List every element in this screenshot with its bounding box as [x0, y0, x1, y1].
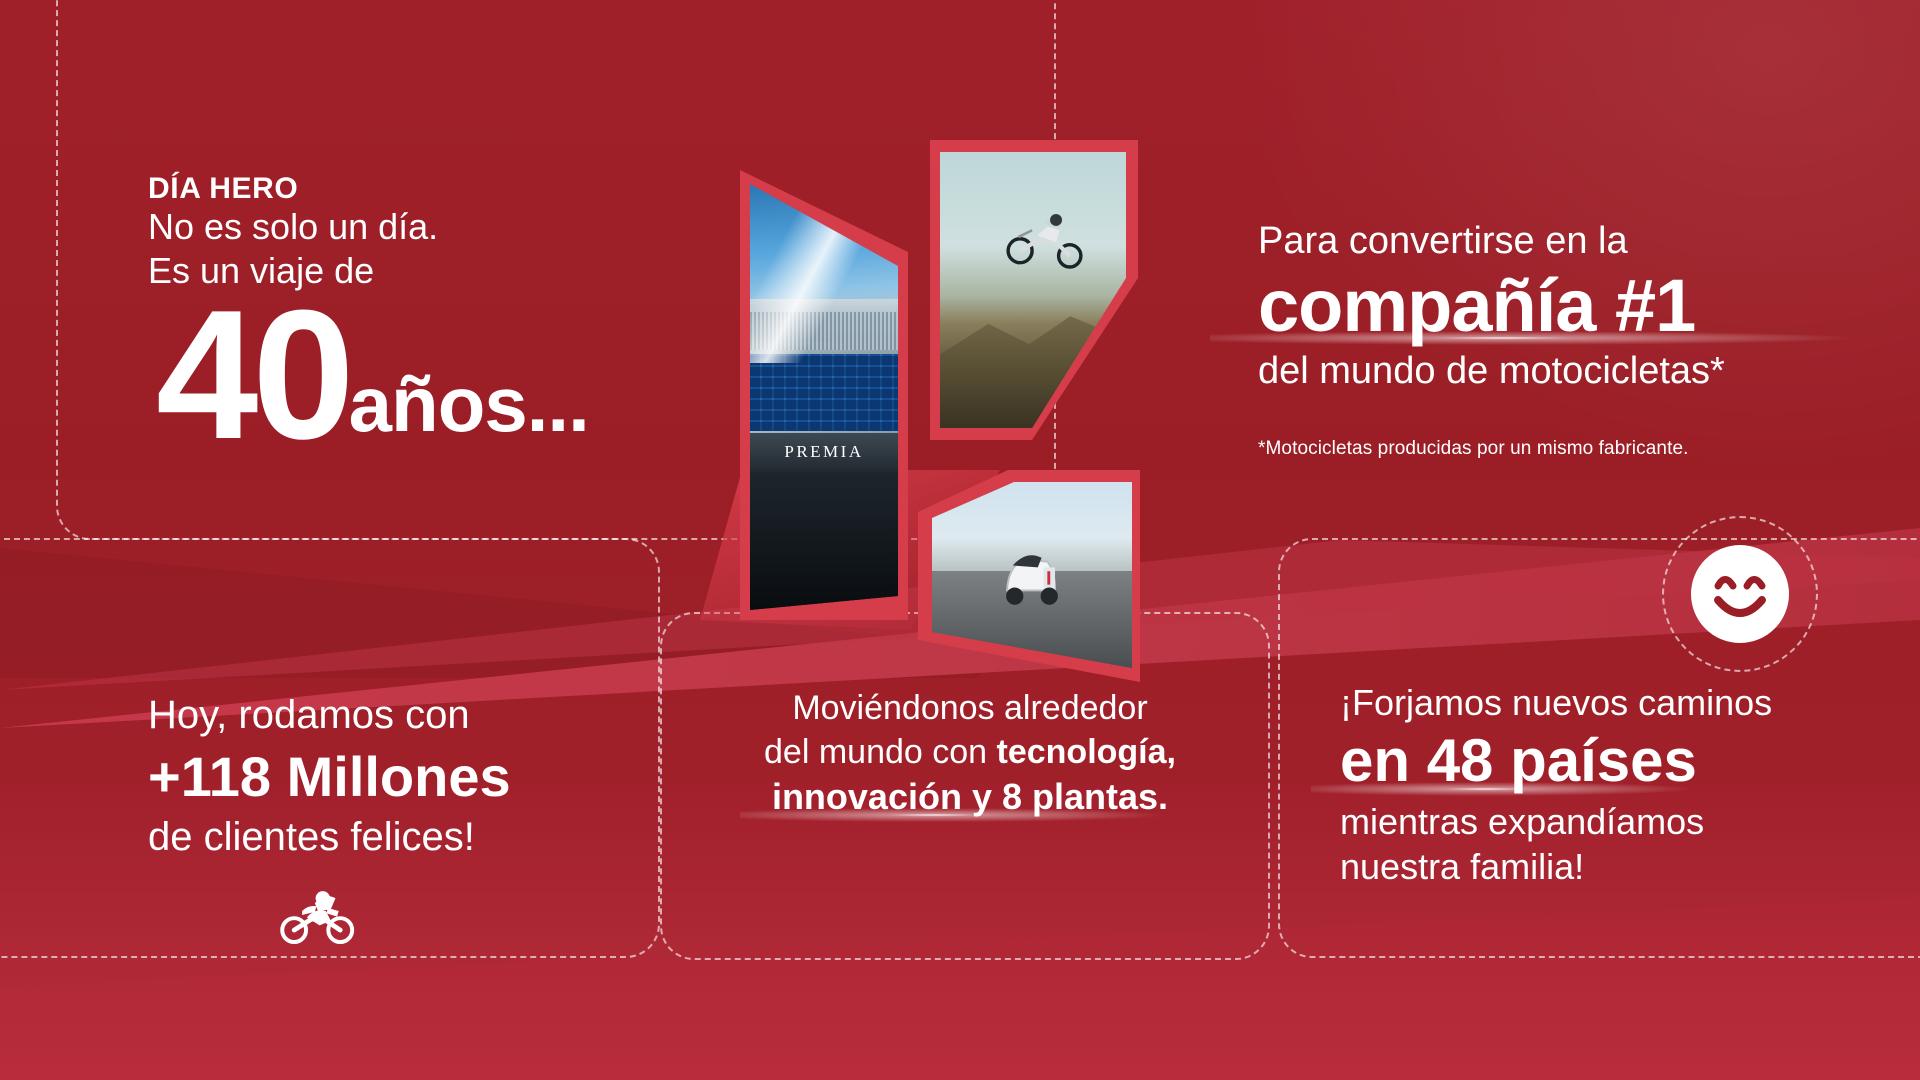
building-glass-facade: [750, 354, 898, 431]
tr-line-1: Para convertirse en la: [1258, 218, 1858, 266]
bc-line-2-plain: del mundo con: [764, 733, 997, 771]
top-left-text-block: DÍA HERO No es solo un día. Es un viaje …: [148, 172, 708, 450]
tr-line-3: del mundo de motocicletas*: [1258, 348, 1858, 396]
smiley-face-icon: [1690, 544, 1790, 644]
bl-line-1: Hoy, rodamos con: [148, 690, 628, 740]
br-line-4: nuestra familia!: [1340, 844, 1860, 889]
bl-line-3: de clientes felices!: [148, 812, 628, 862]
years-row: 40 años...: [148, 299, 708, 450]
bl-highlight: +118 Millones: [148, 744, 628, 810]
dirt-bike-icon: [1003, 191, 1089, 285]
br-line-1: ¡Forjamos nuevos caminos: [1340, 680, 1860, 725]
kicker-dia-hero: DÍA HERO: [148, 172, 708, 205]
premia-sign-text: PREMIA: [784, 442, 863, 462]
top-right-text-block: Para convertirse en la compañía #1 del m…: [1258, 218, 1858, 460]
tr-headline: compañía #1: [1258, 268, 1858, 345]
years-number: 40: [156, 299, 349, 450]
bc-line-2-bold: tecnología,: [997, 733, 1176, 771]
building-entrance-dark: [750, 472, 898, 610]
three-wheeler-icon: [984, 523, 1080, 627]
tr-footnote: *Motocicletas producidas por un mismo fa…: [1258, 438, 1858, 460]
bc-line-3-text: innovación y 8 plantas.: [772, 776, 1168, 817]
br-highlight-text: en 48 países: [1340, 727, 1697, 794]
bottom-center-text-block: Moviéndonos alrededor del mundo con tecn…: [700, 686, 1240, 821]
bottom-left-text-block: Hoy, rodamos con +118 Millones de client…: [148, 690, 628, 862]
bc-line-2: del mundo con tecnología,: [700, 730, 1240, 774]
tr-headline-text: compañía #1: [1258, 264, 1695, 347]
premia-sign: PREMIA: [750, 433, 898, 471]
lede-line-1: No es solo un día.: [148, 205, 708, 249]
br-line-3: mientras expandíamos: [1340, 799, 1860, 844]
br-highlight: en 48 países: [1340, 727, 1697, 794]
building-fins: [750, 312, 898, 350]
dirt-bike-jump-photo: [940, 152, 1126, 428]
bottom-right-text-block: ¡Forjamos nuevos caminos en 48 países mi…: [1340, 680, 1860, 889]
infographic-canvas: DÍA HERO No es solo un día. Es un viaje …: [0, 0, 1920, 1080]
motorcycle-rider-icon: [278, 884, 358, 946]
bc-line-1: Moviéndonos alrededor: [700, 686, 1240, 730]
years-unit: años...: [349, 359, 589, 450]
mountain-ridge: [940, 301, 1126, 428]
bc-line-3: innovación y 8 plantas.: [772, 774, 1168, 821]
hero-logo-photo-collage: PREMIA: [740, 170, 1140, 620]
